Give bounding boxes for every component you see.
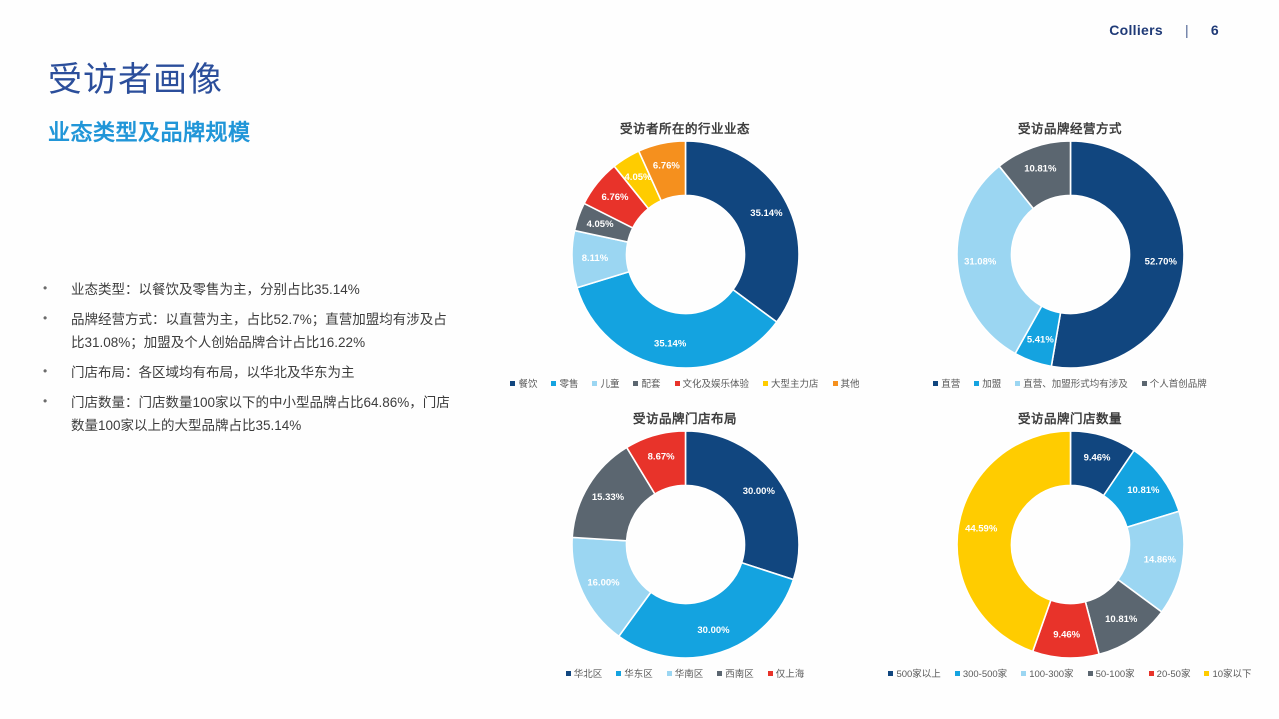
bullet-list: • 业态类型：以餐饮及零售为主，分别占比35.14% • 品牌经营方式：以直营为… — [40, 278, 460, 444]
chart-legend-layout: 华北区华东区华南区西南区仅上海 — [470, 666, 900, 680]
chart-title: 受访者所在的行业业态 — [470, 118, 900, 137]
legend-swatch-icon — [1088, 671, 1093, 676]
legend-label: 儿童 — [600, 376, 619, 390]
legend-item[interactable]: 个人首创品牌 — [1142, 376, 1207, 390]
pie-slice-label: 30.00% — [697, 625, 730, 636]
legend-swatch-icon — [566, 671, 571, 676]
donut-chart-storecount[interactable]: 9.46%10.81%14.86%10.81%9.46%44.59% — [953, 427, 1188, 662]
legend-item[interactable]: 其他 — [833, 376, 860, 390]
pie-slice-label: 4.05% — [624, 172, 651, 183]
legend-label: 300-500家 — [963, 666, 1007, 680]
list-item: • 业态类型：以餐饮及零售为主，分别占比35.14% — [40, 278, 460, 302]
legend-label: 零售 — [559, 376, 578, 390]
pie-slice-label: 52.70% — [1144, 257, 1177, 268]
donut-chart-industry[interactable]: 35.14%35.14%8.11%4.05%6.76%4.05%6.76% — [568, 137, 803, 372]
chart-title: 受访品牌门店数量 — [860, 408, 1279, 427]
legend-label: 20-50家 — [1157, 666, 1191, 680]
legend-label: 10家以下 — [1212, 666, 1251, 680]
pie-slice-label: 10.81% — [1024, 164, 1057, 175]
list-item: • 门店布局：各区域均有布局，以华北及华东为主 — [40, 361, 460, 385]
legend-label: 500家以上 — [896, 666, 940, 680]
chart-legend-industry: 餐饮零售儿童配套文化及娱乐体验大型主力店其他 — [470, 376, 900, 390]
legend-item[interactable]: 零售 — [551, 376, 578, 390]
legend-label: 文化及娱乐体验 — [683, 376, 750, 390]
legend-swatch-icon — [974, 381, 979, 386]
legend-swatch-icon — [1021, 671, 1026, 676]
pie-slice[interactable] — [685, 141, 799, 322]
legend-item[interactable]: 50-100家 — [1088, 666, 1135, 680]
header-separator: | — [1185, 22, 1189, 38]
pie-slice-label: 44.59% — [965, 524, 998, 535]
pie-slice-label: 15.33% — [591, 492, 624, 503]
legend-swatch-icon — [717, 671, 722, 676]
pie-slice-label: 8.67% — [647, 452, 674, 463]
bullet-text: 业态类型：以餐饮及零售为主，分别占比35.14% — [71, 278, 460, 302]
page-subtitle: 业态类型及品牌规模 — [48, 115, 251, 147]
legend-label: 100-300家 — [1029, 666, 1073, 680]
pie-slice-label: 30.00% — [742, 486, 775, 497]
legend-item[interactable]: 大型主力店 — [763, 376, 819, 390]
legend-swatch-icon — [833, 381, 838, 386]
list-item: • 品牌经营方式：以直营为主，占比52.7%；直营加盟均有涉及占比31.08%；… — [40, 308, 460, 355]
bullet-marker-icon: • — [40, 361, 71, 382]
pie-slice-label: 10.81% — [1105, 614, 1138, 625]
legend-swatch-icon — [933, 381, 938, 386]
slide-canvas: Colliers | 6 受访者画像 业态类型及品牌规模 • 业态类型：以餐饮及… — [0, 0, 1279, 719]
pie-slice-label: 9.46% — [1053, 630, 1080, 641]
pie-slice-label: 5.41% — [1026, 334, 1053, 345]
chart-operation: 受访品牌经营方式 52.70%5.41%31.08%10.81% 直营加盟直营、… — [860, 118, 1279, 390]
legend-item[interactable]: 300-500家 — [955, 666, 1007, 680]
legend-swatch-icon — [616, 671, 621, 676]
pie-slice-label: 31.08% — [964, 257, 997, 268]
legend-label: 直营、加盟形式均有涉及 — [1023, 376, 1128, 390]
chart-layout: 受访品牌门店布局 30.00%30.00%16.00%15.33%8.67% 华… — [470, 408, 900, 680]
pie-slice-label: 35.14% — [654, 338, 687, 349]
legend-item[interactable]: 仅上海 — [768, 666, 805, 680]
bullet-marker-icon: • — [40, 278, 71, 299]
pie-slice-label: 4.05% — [586, 219, 613, 230]
legend-swatch-icon — [1015, 381, 1020, 386]
legend-item[interactable]: 华南区 — [667, 666, 704, 680]
legend-swatch-icon — [510, 381, 515, 386]
bullet-text: 门店布局：各区域均有布局，以华北及华东为主 — [71, 361, 460, 385]
bullet-marker-icon: • — [40, 391, 71, 412]
chart-legend-operation: 直营加盟直营、加盟形式均有涉及个人首创品牌 — [860, 376, 1279, 390]
brand-label: Colliers — [1109, 22, 1163, 38]
chart-title: 受访品牌门店布局 — [470, 408, 900, 427]
legend-label: 华北区 — [574, 666, 603, 680]
legend-label: 其他 — [841, 376, 860, 390]
legend-swatch-icon — [592, 381, 597, 386]
page-title: 受访者画像 — [48, 52, 223, 101]
legend-item[interactable]: 加盟 — [974, 376, 1001, 390]
bullet-text: 门店数量：门店数量100家以下的中小型品牌占比64.86%，门店数量100家以上… — [71, 391, 460, 438]
legend-item[interactable]: 10家以下 — [1204, 666, 1251, 680]
page-number: 6 — [1211, 22, 1219, 38]
pie-slice[interactable] — [618, 563, 793, 658]
chart-industry: 受访者所在的行业业态 35.14%35.14%8.11%4.05%6.76%4.… — [470, 118, 900, 390]
bullet-marker-icon: • — [40, 308, 71, 329]
legend-label: 西南区 — [725, 666, 754, 680]
legend-item[interactable]: 文化及娱乐体验 — [675, 376, 750, 390]
legend-label: 加盟 — [982, 376, 1001, 390]
legend-swatch-icon — [888, 671, 893, 676]
legend-item[interactable]: 配套 — [633, 376, 660, 390]
legend-item[interactable]: 直营、加盟形式均有涉及 — [1015, 376, 1128, 390]
legend-label: 个人首创品牌 — [1150, 376, 1207, 390]
legend-item[interactable]: 餐饮 — [510, 376, 537, 390]
legend-swatch-icon — [768, 671, 773, 676]
legend-item[interactable]: 20-50家 — [1149, 666, 1191, 680]
chart-storecount: 受访品牌门店数量 9.46%10.81%14.86%10.81%9.46%44.… — [860, 408, 1279, 680]
legend-swatch-icon — [675, 381, 680, 386]
pie-slice-label: 14.86% — [1143, 554, 1176, 565]
list-item: • 门店数量：门店数量100家以下的中小型品牌占比64.86%，门店数量100家… — [40, 391, 460, 438]
legend-label: 餐饮 — [518, 376, 537, 390]
legend-label: 仅上海 — [776, 666, 805, 680]
legend-swatch-icon — [1149, 671, 1154, 676]
legend-item[interactable]: 儿童 — [592, 376, 619, 390]
legend-swatch-icon — [633, 381, 638, 386]
legend-label: 大型主力店 — [771, 376, 819, 390]
legend-swatch-icon — [763, 381, 768, 386]
pie-slice-label: 9.46% — [1083, 452, 1110, 463]
legend-label: 50-100家 — [1096, 666, 1135, 680]
legend-swatch-icon — [667, 671, 672, 676]
legend-label: 华东区 — [624, 666, 653, 680]
pie-slice-label: 16.00% — [587, 578, 620, 589]
legend-item[interactable]: 华东区 — [616, 666, 653, 680]
legend-swatch-icon — [551, 381, 556, 386]
legend-item[interactable]: 直营 — [933, 376, 960, 390]
legend-label: 配套 — [641, 376, 660, 390]
pie-slice-label: 6.76% — [601, 192, 628, 203]
pie-slice-label: 8.11% — [581, 253, 608, 264]
slide-header: Colliers | 6 — [1109, 22, 1219, 38]
legend-item[interactable]: 西南区 — [717, 666, 754, 680]
pie-slice-label: 6.76% — [652, 160, 679, 171]
legend-label: 直营 — [941, 376, 960, 390]
pie-slice-label: 35.14% — [750, 208, 783, 219]
legend-swatch-icon — [955, 671, 960, 676]
chart-title: 受访品牌经营方式 — [860, 118, 1279, 137]
pie-slice[interactable] — [685, 431, 799, 580]
chart-legend-storecount: 500家以上300-500家100-300家50-100家20-50家10家以下 — [860, 666, 1279, 680]
donut-chart-layout[interactable]: 30.00%30.00%16.00%15.33%8.67% — [568, 427, 803, 662]
legend-item[interactable]: 华北区 — [566, 666, 603, 680]
legend-label: 华南区 — [675, 666, 704, 680]
donut-chart-operation[interactable]: 52.70%5.41%31.08%10.81% — [953, 137, 1188, 372]
legend-item[interactable]: 500家以上 — [888, 666, 940, 680]
legend-swatch-icon — [1204, 671, 1209, 676]
legend-item[interactable]: 100-300家 — [1021, 666, 1073, 680]
bullet-text: 品牌经营方式：以直营为主，占比52.7%；直营加盟均有涉及占比31.08%；加盟… — [71, 308, 460, 355]
pie-slice-label: 10.81% — [1127, 485, 1160, 496]
legend-swatch-icon — [1142, 381, 1147, 386]
